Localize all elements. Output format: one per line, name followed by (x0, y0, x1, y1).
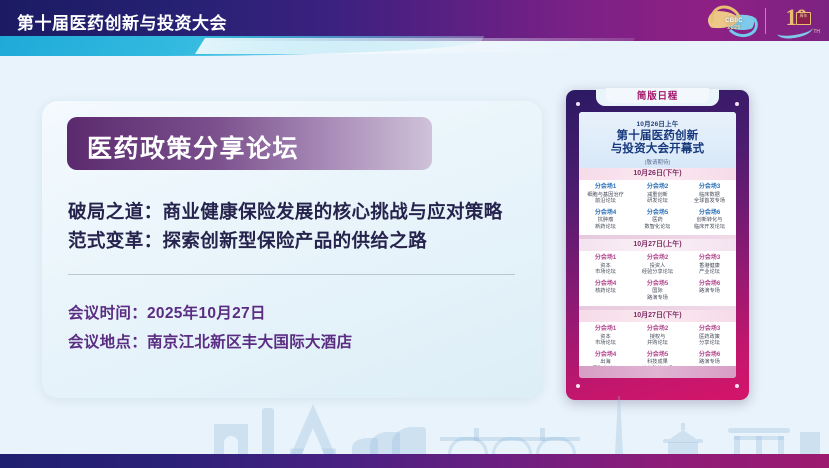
session-title-line: 市场论坛 (581, 269, 630, 276)
meeting-place-text: 会议地点：南京江北新区丰大国际大酒店 (68, 330, 352, 352)
gate-leg-left (734, 436, 740, 454)
session-title-line: 并购论坛 (633, 340, 682, 347)
session-cell[interactable]: 分会场1资本市场论坛 (580, 253, 631, 278)
logo-group: CBIIC 2025 10 周年 TH (706, 3, 819, 39)
session-number: 分会场4 (581, 352, 630, 359)
session-number: 分会场6 (685, 281, 734, 288)
card-pin-top-left (576, 102, 580, 106)
arc-de-triomphe-icon (214, 424, 248, 454)
session-title-line: 经验分享论坛 (633, 269, 682, 276)
session-title-line: 路演专场 (685, 359, 734, 366)
eiffel-tower-icon (290, 402, 336, 454)
session-number: 分会场2 (633, 184, 682, 191)
card-footer-bar (579, 366, 736, 378)
bottom-accent-bar (0, 454, 829, 468)
session-cell[interactable]: 分会场4抗肿瘤新药论坛 (580, 208, 631, 233)
anniversary-tm-mark: TH (813, 29, 820, 35)
temple-of-heaven-icon (660, 422, 706, 454)
cbiic-logo-text: CBIIC 2025 (715, 18, 753, 32)
schedule-card[interactable]: 简版日程 10月26日上午 第十届医药创新 与投资大会开幕式 (敬请期待) 10… (566, 90, 749, 400)
panel-divider (68, 274, 515, 275)
gate-leg-right (778, 436, 784, 454)
session-title-line: 路演专场 (685, 288, 734, 295)
forum-info-panel: 医药政策分享论坛 破局之道：商业健康保险发展的核心挑战与应对策略 范式变革：探索… (42, 101, 542, 398)
session-number: 分会场2 (633, 326, 682, 333)
session-cell[interactable]: 分会场3香港健康产业论坛 (684, 253, 735, 278)
schedule-sheet: 10月26日上午 第十届医药创新 与投资大会开幕式 (敬请期待) 10月26日(… (579, 112, 736, 378)
meeting-time-text: 会议时间：2025年10月27日 (68, 301, 266, 323)
session-grid: 分会场1细胞与基因治疗前沿论坛分会场2减重创新研发论坛分会场3临床数据全球首发专… (579, 180, 736, 235)
session-title-line: 路演专场 (633, 295, 682, 302)
gate-leg-mid (756, 436, 762, 454)
page-title: 第十届医药创新与投资大会 (17, 9, 227, 34)
schedule-block: 10月27日(上午)分会场1资本市场论坛分会场2投资人经验分享论坛分会场3香港健… (579, 239, 736, 306)
opening-title-line1: 第十届医药创新 (579, 130, 736, 143)
slide-canvas: 第十届医药创新与投资大会 CBIIC 2025 10 周年 TH (0, 0, 829, 468)
session-cell[interactable]: 分会场5国际路演专场 (632, 279, 683, 304)
schedule-block-header: 10月27日(下午) (579, 310, 736, 322)
session-number: 分会场1 (581, 184, 630, 191)
opening-date: 10月26日上午 (579, 118, 736, 128)
session-title-line: 前沿论坛 (581, 198, 630, 205)
tower-bridge-icon (440, 428, 580, 454)
session-number: 分会场3 (685, 184, 734, 191)
session-title-line: 临床开发论坛 (685, 224, 734, 231)
schedule-block: 10月26日(下午)分会场1细胞与基因治疗前沿论坛分会场2减重创新研发论坛分会场… (579, 168, 736, 235)
skyline-building-right (800, 432, 820, 454)
header-sweep-decoration (0, 36, 829, 62)
session-title-line: 新药论坛 (581, 224, 630, 231)
session-cell[interactable]: 分会场1细胞与基因治疗前沿论坛 (580, 182, 631, 207)
session-title-line: 核药论坛 (581, 288, 630, 295)
logo-divider (765, 8, 766, 34)
session-cell[interactable]: 分会场2授权与并购论坛 (632, 324, 683, 349)
top-header-bar: 第十届医药创新与投资大会 CBIIC 2025 10 周年 TH (0, 0, 829, 41)
session-number: 分会场4 (581, 210, 630, 217)
session-number: 分会场5 (633, 281, 682, 288)
session-number: 分会场5 (633, 210, 682, 217)
city-skyline-decoration (0, 394, 829, 454)
session-title-line: 全球首发专场 (685, 198, 734, 205)
forum-topic-2: 范式变革：探索创新型保险产品的供给之路 (68, 227, 427, 253)
cbiic-logo-year: 2025 (727, 25, 740, 31)
session-number: 分会场3 (685, 326, 734, 333)
schedule-blocks-host: 10月26日(下午)分会场1细胞与基因治疗前沿论坛分会场2减重创新研发论坛分会场… (579, 168, 736, 377)
schedule-tab-label: 简版日程 (606, 89, 709, 104)
session-cell[interactable]: 分会场1资本市场论坛 (580, 324, 631, 349)
sweep-band-white (195, 38, 635, 54)
gate-roof-top (728, 428, 790, 433)
session-grid: 分会场1资本市场论坛分会场2投资人经验分享论坛分会场3香港健康产业论坛分会场4核… (579, 251, 736, 306)
tenth-anniversary-icon: 10 周年 TH (773, 4, 819, 38)
cbiic-logo-acronym: CBIIC (725, 18, 743, 24)
opening-note: (敬请期待) (579, 158, 736, 166)
schedule-block-header: 10月27日(上午) (579, 239, 736, 251)
card-pin-bottom-left (576, 384, 580, 388)
chinese-gate-icon (728, 428, 790, 454)
cbiic-logo-icon: CBIIC 2025 (706, 5, 758, 37)
opening-ceremony-block: 10月26日上午 第十届医药创新 与投资大会开幕式 (敬请期待) (579, 112, 736, 168)
session-number: 分会场1 (581, 255, 630, 262)
opening-title-line2: 与投资大会开幕式 (579, 143, 736, 156)
session-number: 分会场6 (685, 352, 734, 359)
session-cell[interactable]: 分会场6路演专场 (684, 279, 735, 304)
session-number: 分会场6 (685, 210, 734, 217)
session-cell[interactable]: 分会场6创新转化与临床开发论坛 (684, 208, 735, 233)
sydney-opera-house-icon (352, 426, 430, 454)
session-title-line: 数智化论坛 (633, 224, 682, 231)
session-number: 分会场3 (685, 255, 734, 262)
session-cell[interactable]: 分会场3医药政策分享论坛 (684, 324, 735, 349)
forum-title-banner: 医药政策分享论坛 (67, 117, 432, 170)
session-number: 分会场4 (581, 281, 630, 288)
forum-topic-1: 破局之道：商业健康保险发展的核心挑战与应对策略 (68, 198, 503, 224)
schedule-block-header: 10月26日(下午) (579, 168, 736, 180)
session-cell[interactable]: 分会场4核药论坛 (580, 279, 631, 304)
card-pin-bottom-right (735, 384, 739, 388)
tv-tower-icon (615, 396, 623, 454)
session-cell[interactable]: 分会场2减重创新研发论坛 (632, 182, 683, 207)
session-cell[interactable]: 分会场2投资人经验分享论坛 (632, 253, 683, 278)
session-title-line: 市场论坛 (581, 340, 630, 347)
session-cell[interactable]: 分会场5医药数智化论坛 (632, 208, 683, 233)
statue-of-liberty-icon (262, 408, 274, 454)
session-number: 分会场5 (633, 352, 682, 359)
session-title-line: 研发论坛 (633, 198, 682, 205)
session-title-line: 分享论坛 (685, 340, 734, 347)
forum-title-text: 医药政策分享论坛 (87, 129, 299, 165)
session-title-line: 产业论坛 (685, 269, 734, 276)
session-cell[interactable]: 分会场3临床数据全球首发专场 (684, 182, 735, 207)
card-pin-top-right (735, 102, 739, 106)
session-number: 分会场1 (581, 326, 630, 333)
session-number: 分会场2 (633, 255, 682, 262)
